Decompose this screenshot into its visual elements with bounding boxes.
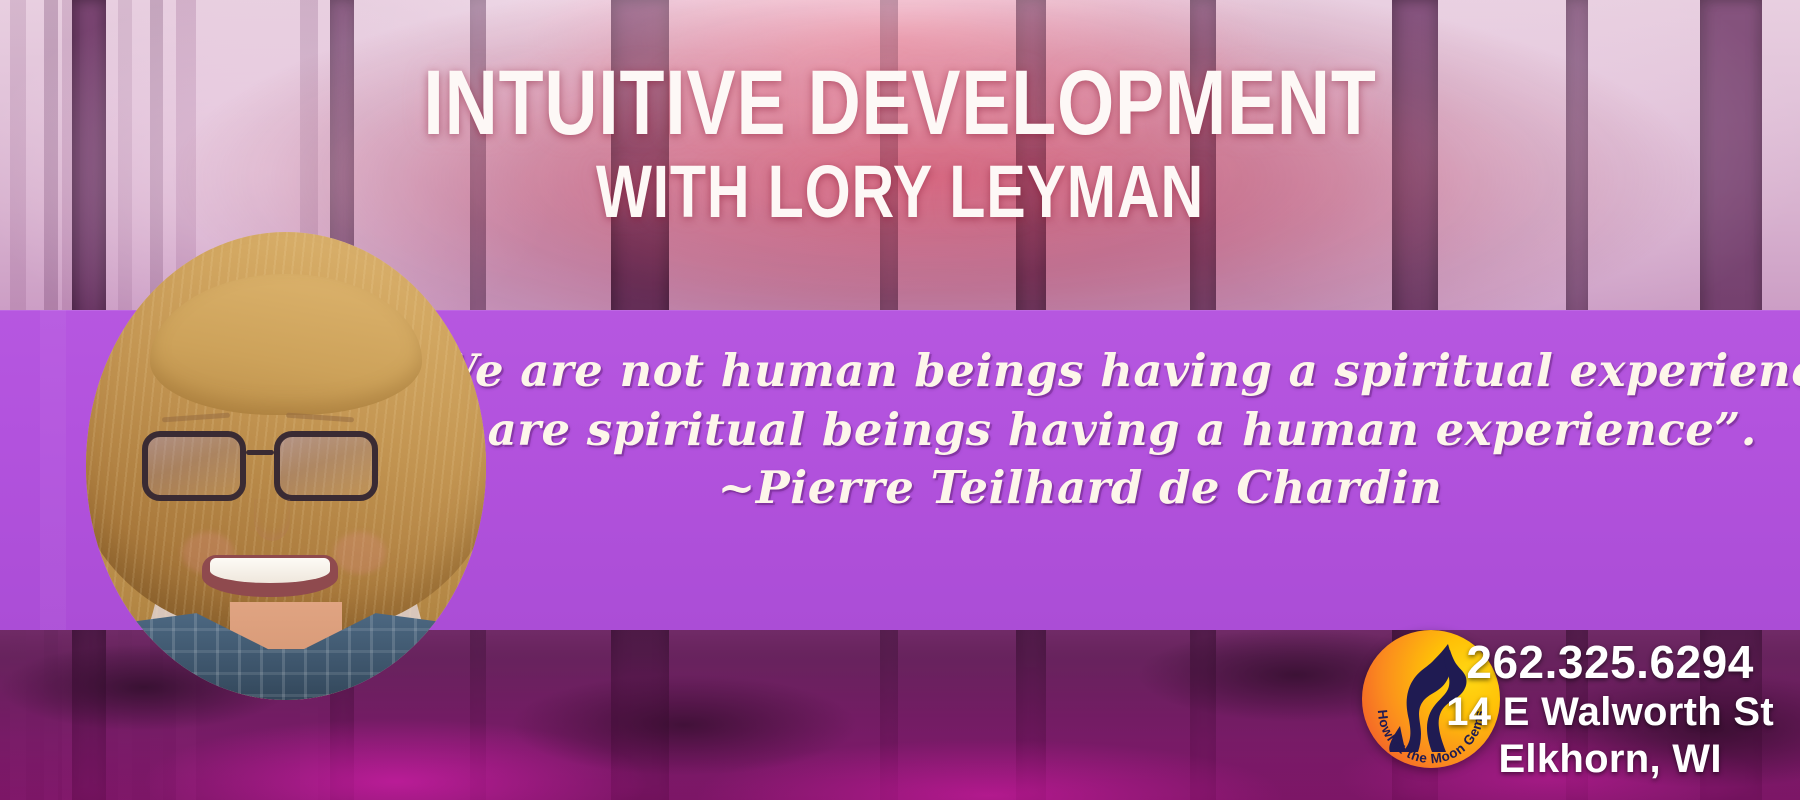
eyeglasses-left-lens [142,431,246,501]
eyeglasses-right-lens [274,431,378,501]
wolf-silhouette [1389,644,1466,752]
teeth [210,558,330,582]
promo-banner: INTUITIVE DEVELOPMENT WITH LORY LEYMAN “… [0,0,1800,800]
nose [254,499,290,541]
eyeglasses-bridge [246,450,274,455]
smile [202,555,338,597]
cheek-right [334,532,386,574]
avatar [86,232,486,700]
howl-at-the-moon-gems-logo[interactable]: Howl at the Moon Gems [1362,630,1500,768]
